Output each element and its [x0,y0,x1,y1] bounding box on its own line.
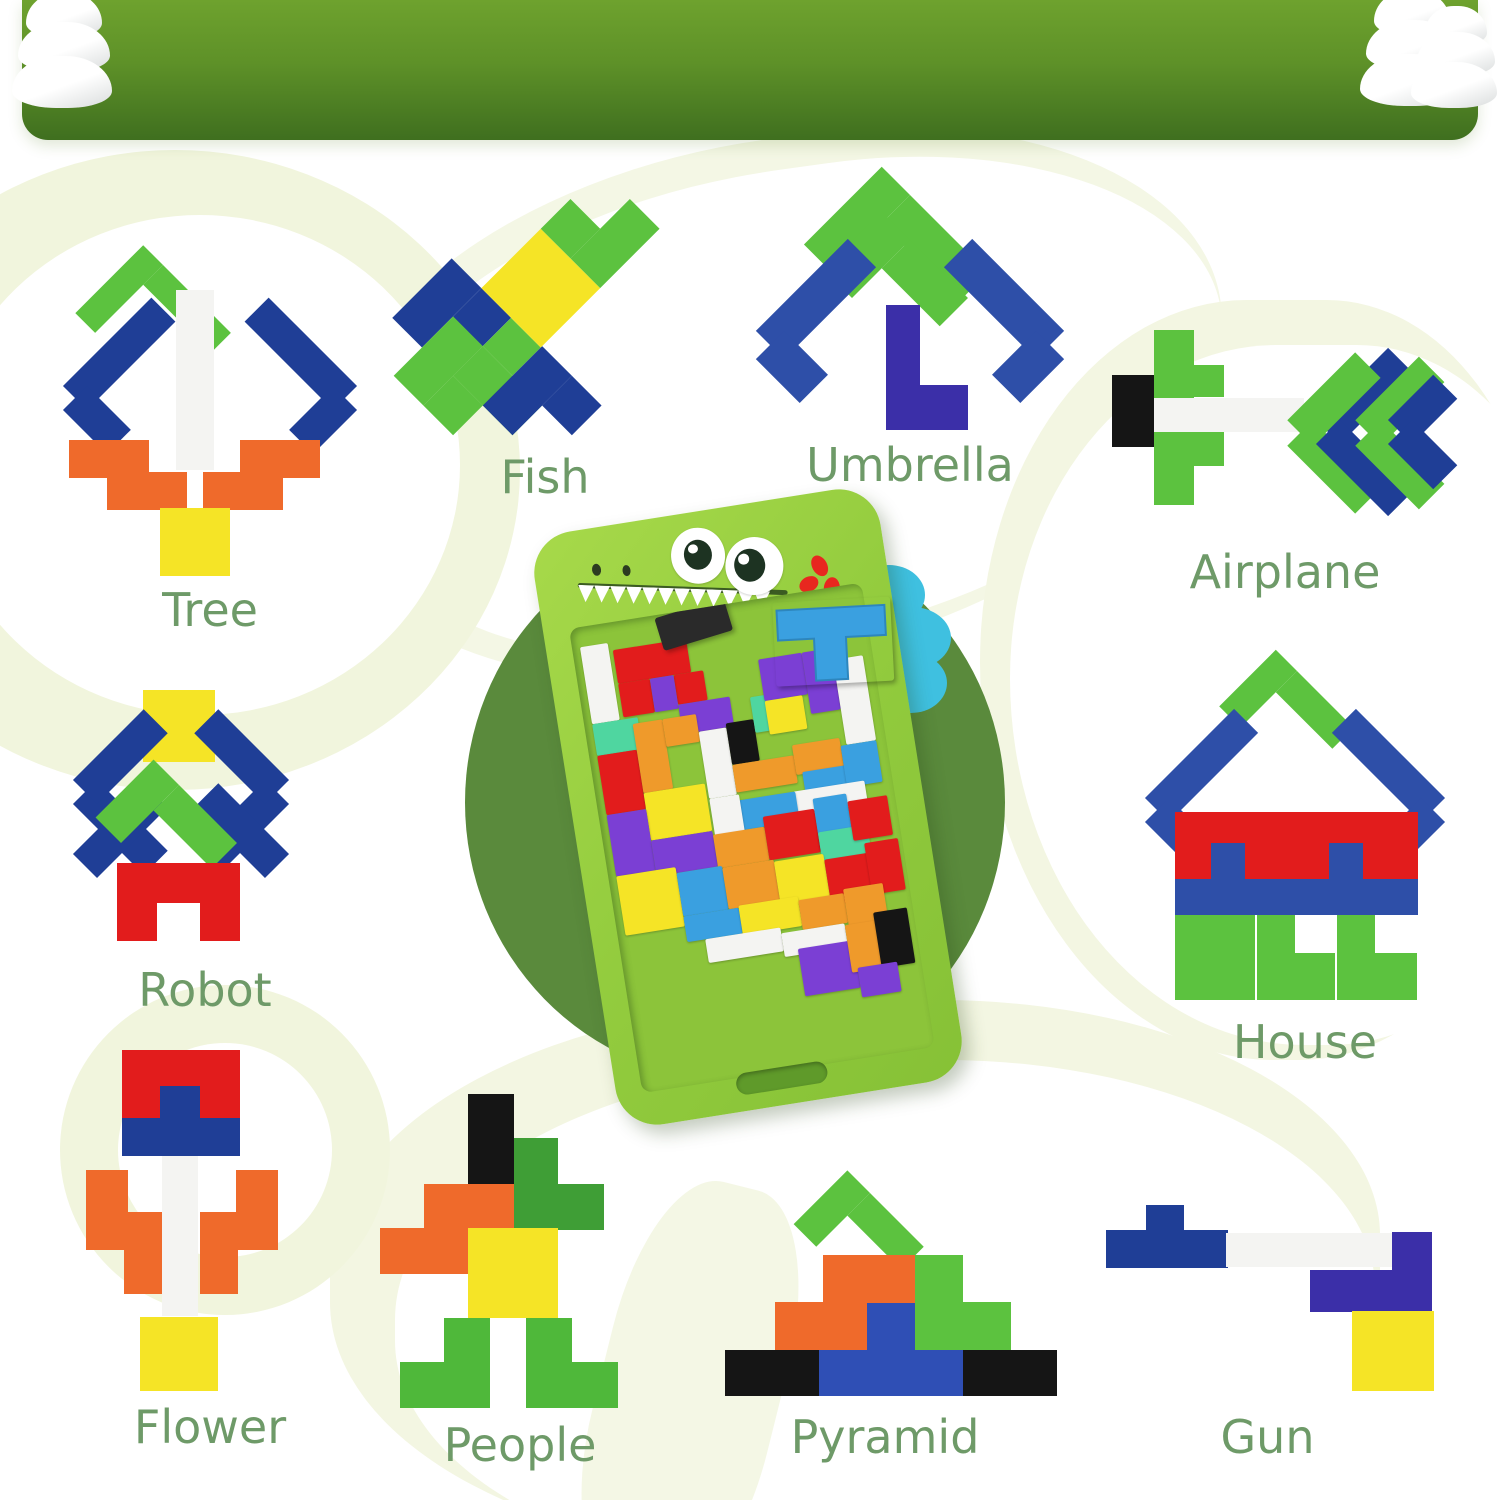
puzzle-tile [650,675,679,712]
shape-label-flower: Flower [60,1400,360,1454]
flower-piece-orange-right-c [200,1212,238,1294]
pyramid-piece-black-base-left [725,1350,819,1396]
flower-piece-blue-t-bar [122,1118,240,1156]
shape-label-tree: Tree [55,583,365,637]
gun-piece-white-barrel [1226,1233,1396,1267]
shape-house: House [1145,665,1465,1105]
tree-piece-orange-right-b [203,472,283,510]
puzzle-tile [616,867,685,936]
shape-flower: Flower [60,1040,360,1460]
shape-label-pyramid: Pyramid [715,1410,1055,1464]
shape-label-umbrella: Umbrella [760,438,1060,492]
shape-label-people: People [370,1418,670,1472]
gun-piece-blue-sight-bar [1106,1230,1228,1268]
tree-piece-orange-left-b [107,472,187,510]
shape-label-airplane: Airplane [1100,545,1470,599]
house-piece-blue-window-right-stem [1329,843,1363,881]
house-piece-green-base-mid-foot [1257,953,1335,1000]
robot-piece-red-arch-top [117,863,240,903]
shape-label-gun: Gun [1090,1410,1445,1464]
people-piece-green-leg-right-foot [526,1362,618,1408]
people-piece-orange-arm-lower [380,1228,470,1274]
pyramid-piece-orange-lower [775,1302,867,1350]
shape-robot: Robot [55,685,355,1005]
shape-label-house: House [1145,1015,1465,1069]
pyramid-piece-green-right-foot [915,1302,1011,1350]
pine-tree-icon-right-b [1415,8,1500,108]
puzzle-tile [858,962,902,998]
airplane-piece-green-front-top [1154,365,1224,397]
puzzle-tile [763,809,821,861]
house-piece-green-base-left-foot [1175,953,1255,1000]
shape-gun: Gun [1090,1205,1445,1455]
infographic-canvas: Creating More Possibilities Tree [0,0,1500,1500]
dino-nostril-left [591,563,602,576]
shape-tree: Tree [55,265,365,655]
house-piece-green-base-left-post [1217,915,1255,953]
airplane-piece-green-front-bot [1154,430,1224,466]
people-piece-green-arm-horiz [514,1184,604,1230]
puzzle-tile [618,679,655,718]
gun-piece-yellow-grip [1352,1311,1434,1391]
people-piece-orange-arm-upper [424,1184,514,1230]
header-banner [22,0,1478,140]
shape-label-robot: Robot [55,963,355,1017]
tree-piece-yellow-base [160,508,230,576]
people-piece-green-leg-left-foot [400,1362,490,1408]
pyramid-piece-orange-upper [823,1255,915,1303]
pyramid-piece-blue-bar [819,1350,963,1396]
pyramid-piece-black-base-right [963,1350,1057,1396]
shape-pyramid: Pyramid [715,1185,1055,1455]
airplane-piece-white-fuselage [1154,398,1304,432]
shape-fish: Fish [395,195,695,495]
shape-airplane: Airplane [1100,320,1470,620]
house-piece-blue-band [1175,879,1418,915]
house-piece-blue-window-left-cap [1211,843,1245,881]
gun-piece-blue-body-arm [1310,1270,1432,1312]
puzzle-tile [662,714,700,747]
house-piece-green-base-right-foot [1337,953,1417,1000]
dino-eye-left [667,524,729,588]
product-photo-dinosaur-tetris-tablet [455,495,1045,1135]
puzzle-tile [873,907,915,968]
dino-nostril-right [622,565,632,577]
pine-tree-icon-left [12,0,122,115]
shape-people: People [370,1090,670,1460]
loose-piece-blue-t[interactable] [772,597,894,687]
umbrella-piece-purple-handle-foot [886,385,968,430]
airplane-piece-black-nose [1112,375,1154,447]
puzzle-tile [765,695,808,735]
puzzle-tile [673,670,707,704]
people-piece-yellow-body [468,1228,558,1318]
puzzle-tile [676,866,728,917]
pyramid-piece-blue-stem [867,1303,915,1351]
flower-piece-orange-left-c [124,1212,162,1294]
tree-piece-white-trunk [176,290,214,470]
flower-piece-yellow-pot [140,1317,218,1391]
shape-umbrella: Umbrella [760,190,1060,490]
flower-piece-white-stem [162,1156,198,1316]
puzzle-tile [847,795,893,841]
